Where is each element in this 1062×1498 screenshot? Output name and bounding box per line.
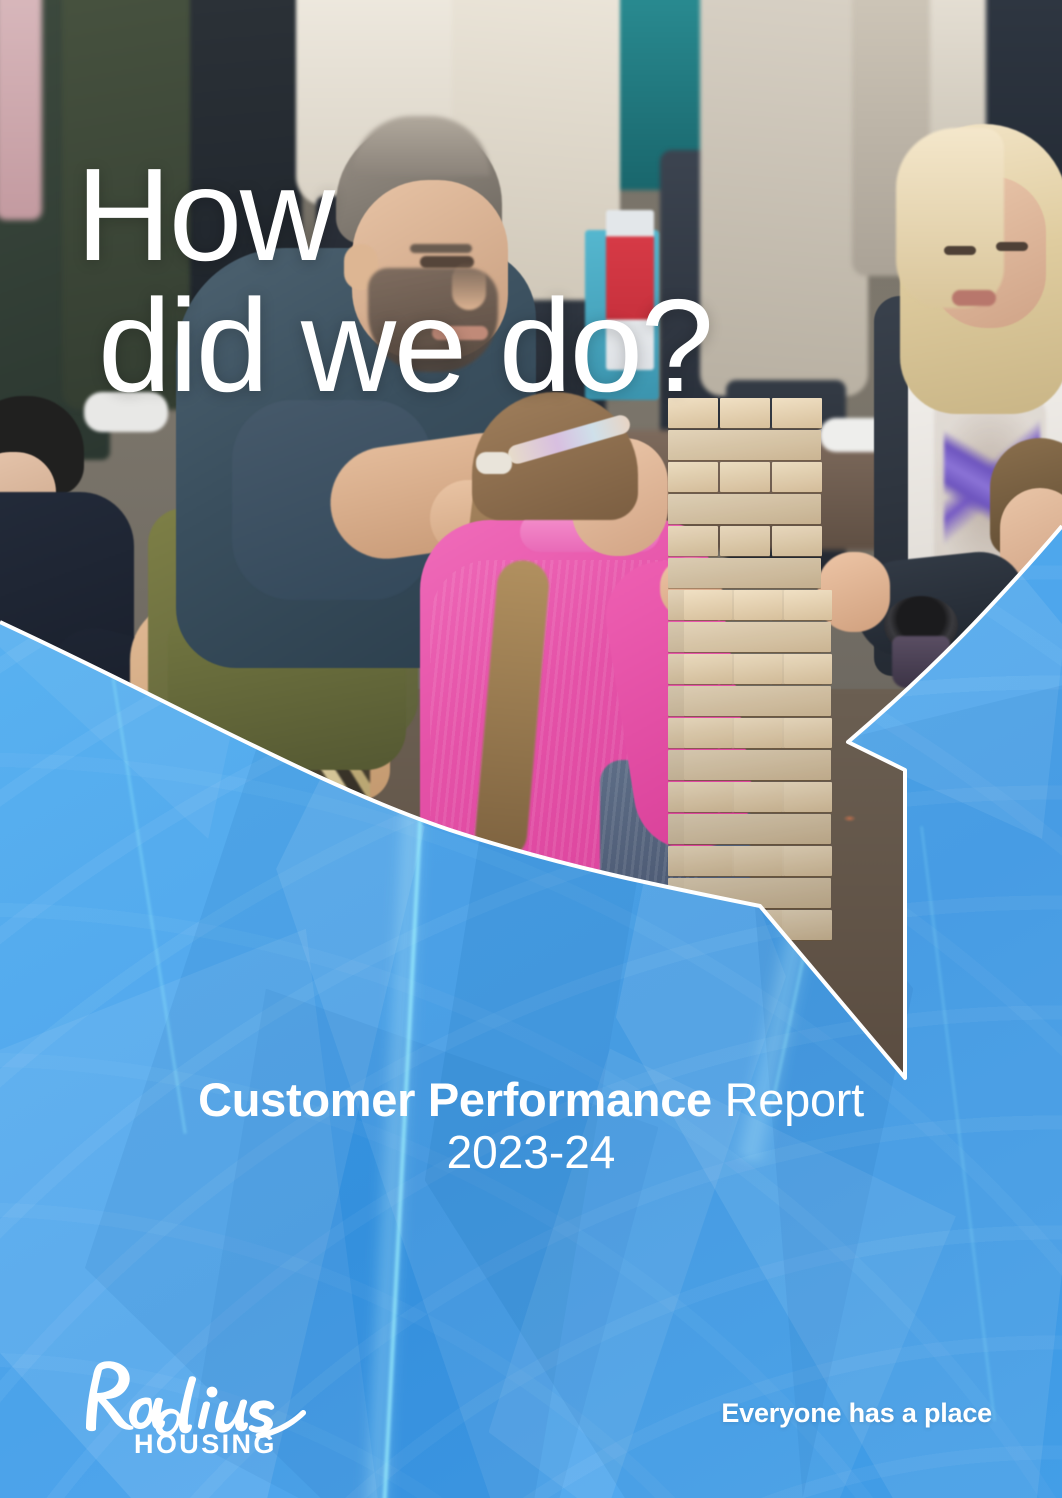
jenga-block: [684, 622, 831, 652]
jenga-block: [720, 398, 770, 428]
page-headline: How did we do?: [76, 150, 711, 411]
logo-subtext: HOUSING: [134, 1429, 277, 1458]
woman-eye: [944, 246, 976, 255]
report-year: 2023-24: [0, 1127, 1062, 1179]
jenga-block: [668, 430, 821, 460]
crowd-figure: [700, 0, 868, 396]
jenga-block: [734, 846, 782, 876]
headline-line-1: How: [76, 141, 333, 288]
jenga-block: [684, 782, 732, 812]
jenga-block: [784, 718, 832, 748]
jenga-tower: [684, 590, 834, 942]
report-subtitle: Customer Performance Report 2023-24: [0, 1074, 1062, 1178]
woman-hair: [896, 128, 1004, 308]
jenga-block: [668, 494, 821, 524]
report-cover-page: How did we do? Customer Performance Repo…: [0, 0, 1062, 1498]
jenga-block: [684, 590, 732, 620]
jenga-block: [684, 814, 831, 844]
jenga-block: [734, 718, 782, 748]
jenga-block: [772, 462, 822, 492]
subtitle-bold: Customer Performance: [198, 1073, 712, 1126]
jenga-block: [684, 718, 732, 748]
jenga-block: [734, 654, 782, 684]
girl-hair-tie: [476, 452, 512, 474]
woman-eye: [996, 242, 1028, 251]
jenga-block: [684, 654, 732, 684]
jenga-block: [684, 686, 831, 716]
subtitle-regular: Report: [712, 1073, 864, 1126]
jenga-block: [720, 526, 770, 556]
jenga-block: [784, 654, 832, 684]
crowd-figure: [0, 0, 42, 220]
jenga-block: [668, 558, 821, 588]
jenga-block: [784, 590, 832, 620]
jenga-block: [784, 782, 832, 812]
jenga-block: [772, 398, 822, 428]
brand-tagline: Everyone has a place: [721, 1398, 992, 1429]
jenga-block: [720, 462, 770, 492]
jenga-block: [772, 526, 822, 556]
jenga-block: [684, 846, 732, 876]
jenga-block: [734, 782, 782, 812]
radius-housing-logo: HOUSING: [72, 1352, 312, 1458]
headline-line-2: did we do?: [98, 281, 711, 412]
jenga-block: [668, 462, 718, 492]
jenga-block: [668, 526, 718, 556]
jenga-block: [734, 590, 782, 620]
jenga-block: [784, 910, 832, 940]
jenga-block: [784, 846, 832, 876]
woman-mouth: [952, 290, 996, 306]
jenga-block: [684, 750, 831, 780]
